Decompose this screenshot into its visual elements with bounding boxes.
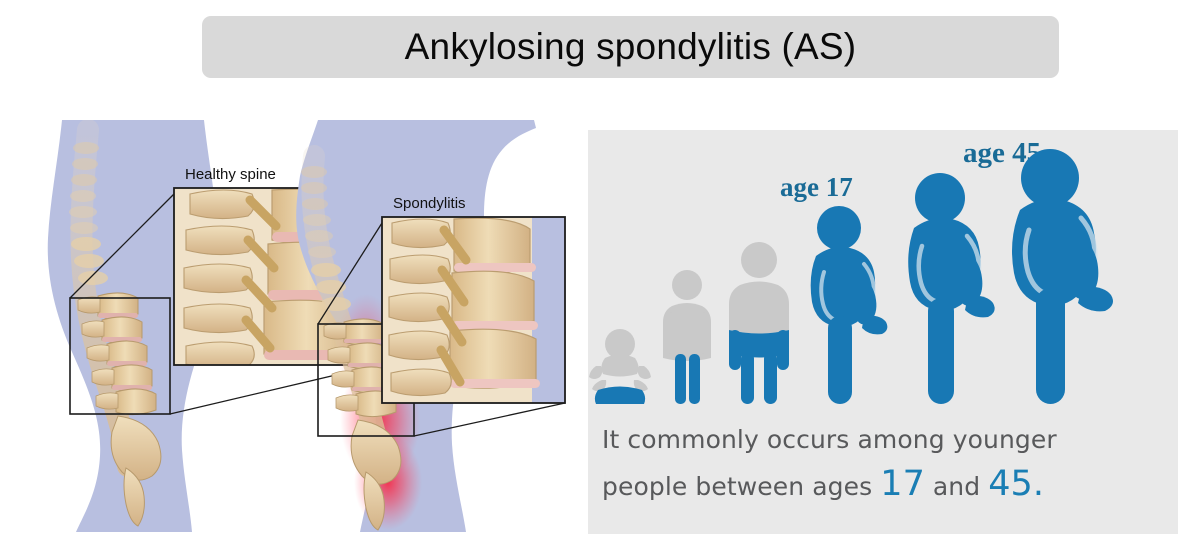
- spondylitis-spine-inset: [382, 217, 565, 403]
- caption-line-2: people between ages 17 and 45.: [602, 462, 1168, 509]
- spine-comparison-illustration: Healthy spine: [14, 120, 574, 532]
- caption-text-1: It commonly occurs among younger: [602, 425, 1057, 454]
- caption-text-3: and: [925, 472, 988, 501]
- caption-text-2: people between ages: [602, 472, 880, 501]
- page-title: Ankylosing spondylitis (AS): [405, 26, 857, 68]
- caption-age-17: 17: [880, 464, 925, 504]
- healthy-spine-label: Healthy spine: [185, 166, 276, 183]
- title-banner: Ankylosing spondylitis (AS): [202, 16, 1059, 78]
- age-caption: It commonly occurs among younger people …: [602, 418, 1168, 509]
- figure-adult-17: [811, 206, 888, 404]
- figure-infant: [589, 329, 651, 404]
- age-progression-figures: age 17 age 45: [588, 130, 1178, 410]
- caption-age-45: 45.: [988, 464, 1044, 504]
- caption-line-1: It commonly occurs among younger: [602, 418, 1168, 462]
- figure-adult-mid: [908, 173, 994, 404]
- figure-child: [729, 242, 789, 404]
- age-progression-panel: age 17 age 45: [588, 130, 1178, 534]
- figure-toddler: [663, 270, 711, 404]
- figure-adult-45: [1012, 149, 1113, 404]
- age-17-tag: age 17: [780, 172, 853, 202]
- spondylitis-label: Spondylitis: [393, 195, 466, 212]
